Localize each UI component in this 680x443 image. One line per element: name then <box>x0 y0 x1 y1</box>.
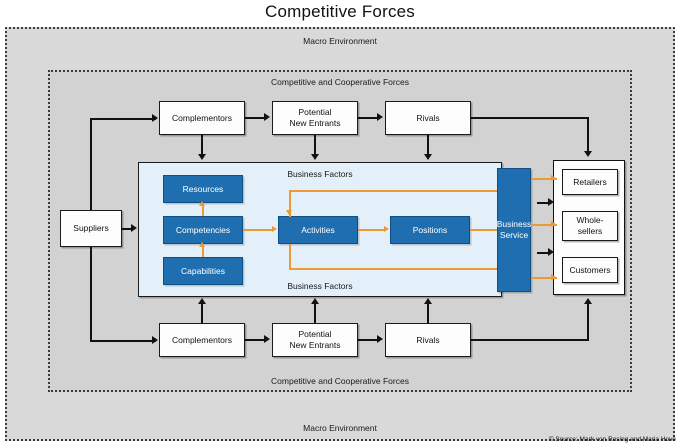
arrow-complementors-pne-top <box>264 113 270 121</box>
orange-arrow-right-activities <box>384 226 389 232</box>
orange-loop-upper-run <box>289 190 503 192</box>
arrow-complementors-pne-bottom <box>264 335 270 343</box>
box-complementors-bottom[interactable]: Complementors <box>159 323 245 357</box>
pne-bottom-line1: Potential <box>298 329 331 339</box>
macro-environment-label-top: Macro Environment <box>7 36 673 46</box>
arrow-channels-bottom-in <box>584 298 592 304</box>
box-rivals-top[interactable]: Rivals <box>385 101 471 135</box>
line-pne-rivals-top <box>358 117 379 119</box>
arrow-complementors-bottom-up <box>198 298 206 304</box>
line-complementors-pne-bottom <box>245 339 266 341</box>
box-complementors-bottom-label: Complementors <box>172 335 232 346</box>
box-retailers-label: Retailers <box>573 177 607 188</box>
business-service-bar[interactable]: Business Service <box>497 168 531 292</box>
arrow-rivals-top-down <box>424 154 432 160</box>
box-activities[interactable]: Activities <box>278 216 358 244</box>
box-wholesellers[interactable]: Whole- sellers <box>562 211 618 241</box>
orange-arrow-right-competencies <box>272 226 277 232</box>
box-capabilities[interactable]: Capabilities <box>163 257 243 285</box>
business-factors-panel: Business Factors Business Factors Resour… <box>138 162 502 297</box>
business-service-label: Business Service <box>497 219 532 240</box>
box-retailers[interactable]: Retailers <box>562 169 618 195</box>
arrow-rivals-bottom-up <box>424 298 432 304</box>
line-rivals-top-right <box>471 117 589 119</box>
line-complementors-bottom-up <box>201 303 203 324</box>
line-suppliers-to-complementors-top <box>90 118 156 120</box>
orange-loop-lower-run <box>289 268 503 270</box>
line-complementors-pne-top <box>245 117 266 119</box>
arrow-service-channels-lower <box>548 248 554 256</box>
orange-line-activities-positions <box>358 229 385 231</box>
orange-line-competencies-activities <box>243 229 273 231</box>
box-positions[interactable]: Positions <box>390 216 470 244</box>
box-complementors-top-label: Complementors <box>172 113 232 124</box>
arrow-complementors-top-down <box>198 154 206 160</box>
box-rivals-top-label: Rivals <box>416 113 439 124</box>
line-suppliers-to-complementors-bottom <box>90 340 156 342</box>
line-suppliers-up <box>90 118 92 210</box>
box-positions-label: Positions <box>413 225 448 235</box>
pne-top-line1: Potential <box>298 107 331 117</box>
line-pne-bottom-up <box>314 303 316 324</box>
arrow-service-channels-upper <box>548 198 554 206</box>
box-customers[interactable]: Customers <box>562 257 618 283</box>
orange-arrow-retailers <box>551 175 556 181</box>
box-competencies-label: Competencies <box>176 225 230 235</box>
orange-arrow-customers <box>551 274 556 280</box>
arrow-suppliers-factors <box>131 224 137 232</box>
orange-loop-upper-arrow-down <box>286 210 292 215</box>
arrow-pne-top-down <box>311 154 319 160</box>
box-customers-label: Customers <box>569 265 610 276</box>
box-potential-new-entrants-top[interactable]: Potential New Entrants <box>272 101 358 135</box>
box-resources-label: Resources <box>183 184 224 194</box>
box-suppliers[interactable]: Suppliers <box>60 210 122 247</box>
arrow-pne-rivals-top <box>377 113 383 121</box>
arrow-channels-top-in <box>584 151 592 157</box>
forces-label-bottom: Competitive and Cooperative Forces <box>50 376 630 386</box>
line-rivals-top-to-channels <box>587 117 589 153</box>
line-rivals-bottom-to-channels <box>587 303 589 341</box>
macro-environment-label-bottom: Macro Environment <box>7 423 673 433</box>
arrow-pne-rivals-bottom <box>377 335 383 343</box>
pne-bottom-line2: New Entrants <box>289 340 340 350</box>
box-resources[interactable]: Resources <box>163 175 243 203</box>
box-potential-new-entrants-bottom-label: Potential New Entrants <box>289 329 340 350</box>
box-rivals-bottom[interactable]: Rivals <box>385 323 471 357</box>
arrow-complementors-top-in <box>152 114 158 122</box>
line-rivals-bottom-right <box>471 339 589 341</box>
orange-arrow-up-capabilities <box>199 242 205 247</box>
box-suppliers-label: Suppliers <box>73 223 108 234</box>
box-wholesellers-label: Whole- sellers <box>577 215 604 236</box>
box-wholesellers-line2: sellers <box>578 226 603 236</box>
box-rivals-bottom-label: Rivals <box>416 335 439 346</box>
arrow-pne-bottom-up <box>311 298 319 304</box>
line-rivals-bottom-up <box>427 303 429 324</box>
orange-arrow-up-resources <box>199 201 205 206</box>
business-service-line2: Service <box>500 230 528 240</box>
box-wholesellers-line1: Whole- <box>577 215 604 225</box>
line-pne-rivals-bottom <box>358 339 379 341</box>
box-activities-label: Activities <box>301 225 335 235</box>
source-note: © Source: Mark von Rosing and Maria Hove <box>549 436 676 443</box>
orange-loop-lower-riser <box>289 244 291 270</box>
box-potential-new-entrants-top-label: Potential New Entrants <box>289 107 340 128</box>
business-service-line1: Business <box>497 219 532 229</box>
line-suppliers-down <box>90 247 92 342</box>
orange-arrow-wholesellers <box>551 221 556 227</box>
box-potential-new-entrants-bottom[interactable]: Potential New Entrants <box>272 323 358 357</box>
box-competencies[interactable]: Competencies <box>163 216 243 244</box>
forces-label-top: Competitive and Cooperative Forces <box>50 77 630 87</box>
box-capabilities-label: Capabilities <box>181 266 225 276</box>
box-complementors-top[interactable]: Complementors <box>159 101 245 135</box>
page-title: Competitive Forces <box>0 2 680 24</box>
channels-container: Retailers Whole- sellers Customers <box>553 160 625 295</box>
arrow-complementors-bottom-in <box>152 336 158 344</box>
pne-top-line2: New Entrants <box>289 118 340 128</box>
